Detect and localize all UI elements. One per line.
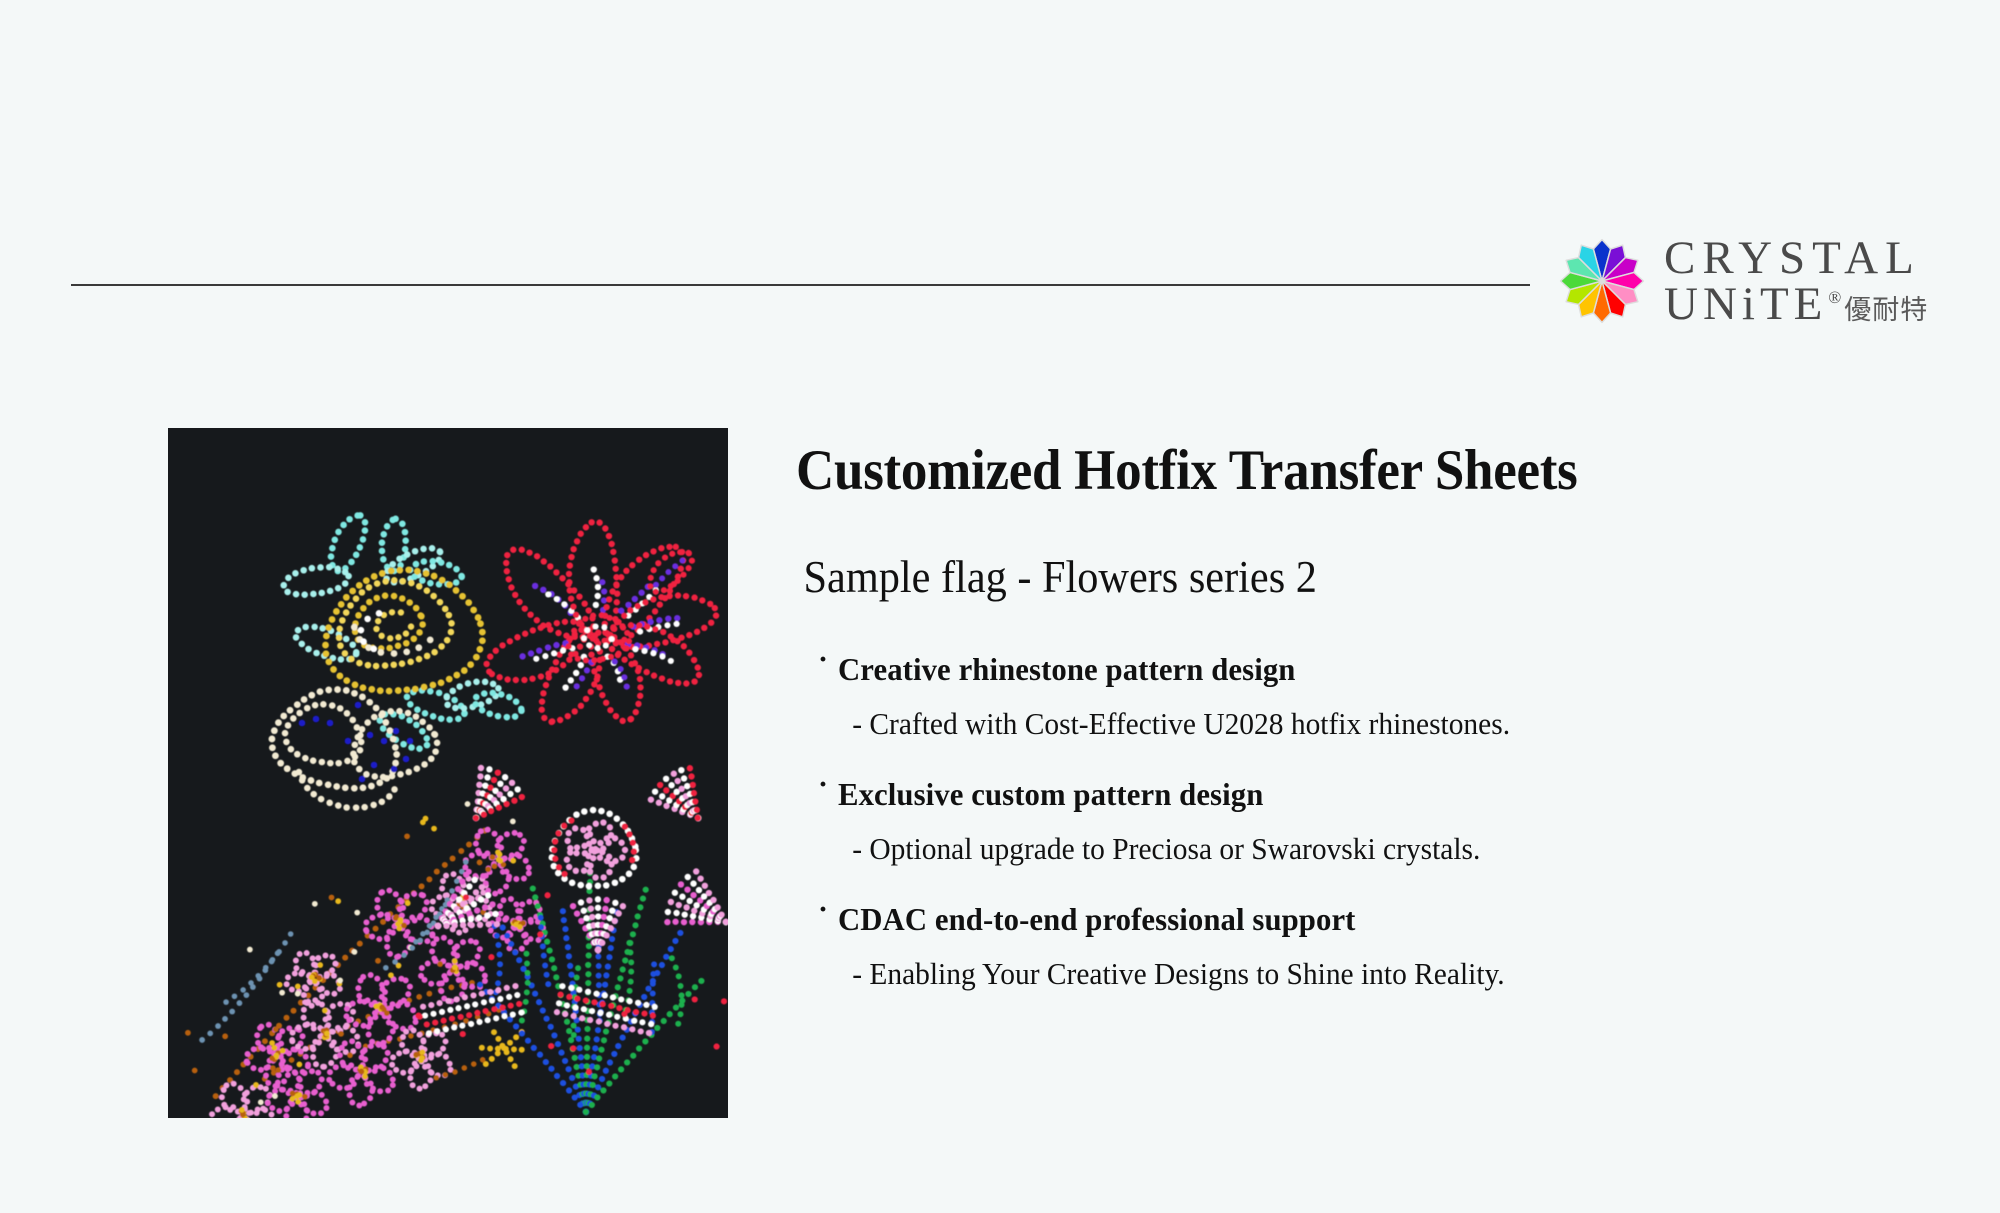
bullet-dot-icon: · [818, 770, 828, 800]
feature-heading-row: · Creative rhinestone pattern design [818, 649, 1926, 689]
feature-heading: Exclusive custom pattern design [838, 774, 1263, 814]
list-item: · CDAC end-to-end professional support -… [818, 899, 1926, 994]
sample-image-panel [168, 428, 728, 1118]
page-subtitle: Sample flag - Flowers series 2 [796, 503, 1858, 603]
feature-detail: - Enabling Your Creative Designs to Shin… [818, 939, 1871, 994]
feature-heading: CDAC end-to-end professional support [838, 899, 1356, 939]
feature-heading: Creative rhinestone pattern design [838, 649, 1295, 689]
logo-unite-text: UNiTE [1664, 281, 1827, 327]
logo-wordmark: CRYSTAL UNiTE®優耐特 [1664, 235, 1928, 327]
list-item: · Creative rhinestone pattern design - C… [818, 649, 1926, 744]
brand-logo: CRYSTAL UNiTE®優耐特 [1556, 226, 1956, 336]
list-item: · Exclusive custom pattern design - Opti… [818, 774, 1926, 869]
content-column: Customized Hotfix Transfer Sheets Sample… [796, 440, 1926, 1025]
bullet-dot-icon: · [818, 645, 828, 675]
feature-heading-row: · CDAC end-to-end professional support [818, 899, 1926, 939]
logo-line-crystal: CRYSTAL [1664, 235, 1928, 281]
feature-detail: - Crafted with Cost-Effective U2028 hotf… [818, 689, 1871, 744]
feature-heading-row: · Exclusive custom pattern design [818, 774, 1926, 814]
feature-detail: - Optional upgrade to Preciosa or Swarov… [818, 814, 1871, 869]
logo-line-unite: UNiTE®優耐特 [1664, 281, 1928, 327]
header-divider [71, 284, 1530, 286]
logo-chinese-name: 優耐特 [1844, 298, 1928, 324]
bullet-dot-icon: · [818, 895, 828, 925]
registered-mark-icon: ® [1828, 290, 1841, 307]
feature-list: · Creative rhinestone pattern design - C… [796, 603, 1926, 995]
page-title: Customized Hotfix Transfer Sheets [796, 440, 1847, 503]
color-wheel-icon [1556, 235, 1648, 327]
